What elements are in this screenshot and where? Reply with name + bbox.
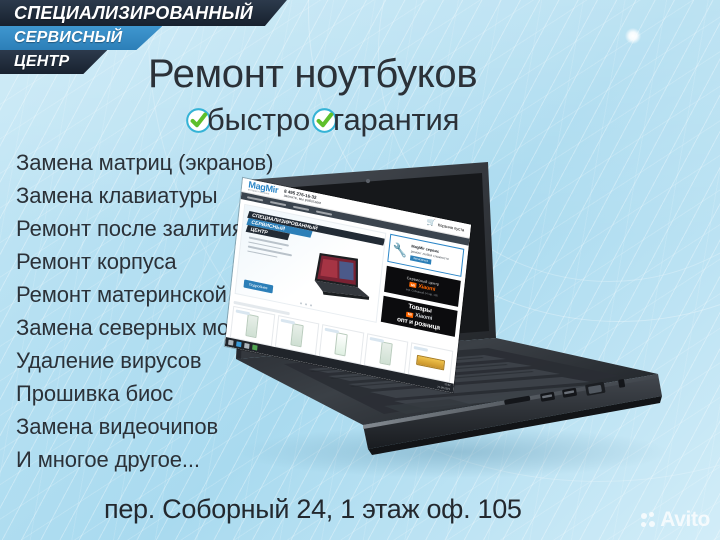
taskbar-tray[interactable]: 11:42 21.09.2021 — [437, 382, 451, 391]
product-tag — [414, 346, 428, 352]
hero-dot[interactable] — [310, 304, 312, 306]
avito-watermark: Avito — [641, 508, 710, 532]
avito-dots-icon — [641, 512, 656, 529]
product-image — [416, 355, 445, 371]
taskbar-clock[interactable]: 11:42 21.09.2021 — [437, 382, 451, 391]
product-tag — [280, 319, 294, 325]
hero-dot[interactable] — [305, 303, 307, 305]
product-image — [379, 341, 392, 365]
taskbar-app-icon[interactable] — [252, 345, 258, 351]
product-tag — [369, 337, 383, 343]
background-glow-dot — [625, 28, 641, 44]
page-title: Ремонт ноутбуков — [148, 52, 477, 97]
xiaomi-mark-icon: MI — [406, 311, 413, 317]
service-card-button[interactable]: Записаться — [410, 255, 431, 265]
service-card-text: MagMir сервис ремонт любой сложности Зап… — [410, 244, 460, 271]
product-image — [246, 314, 259, 338]
avito-wordmark: Avito — [660, 508, 710, 532]
tools-icon: 🔧 — [392, 243, 408, 258]
promise-row: быстро гарантия — [186, 102, 459, 138]
taskbar-app-icon[interactable] — [244, 343, 250, 349]
hero-cta-button[interactable]: Подробнее — [243, 279, 273, 293]
ribbon-service-label: СЕРВИСНЫЙ — [14, 29, 122, 47]
product-image — [290, 323, 303, 347]
site-cart-label: Корзина пуста — [438, 222, 465, 232]
ribbon-center: ЦЕНТР — [0, 50, 107, 74]
promise-label-fast: быстро — [207, 102, 310, 138]
promise-label-warranty: гарантия — [333, 102, 459, 138]
ribbon-specialized: СПЕЦИАЛИЗИРОВАННЫЙ — [0, 0, 287, 26]
address-line: пер. Соборный 24, 1 этаж оф. 105 — [104, 494, 522, 525]
product-image — [335, 332, 348, 356]
site-side-rail: 🔧 MagMir сервис ремонт любой сложности З… — [381, 234, 465, 339]
taskbar-app-icon[interactable] — [236, 341, 242, 347]
product-tag — [325, 328, 339, 334]
ribbon-specialized-label: СПЕЦИАЛИЗИРОВАННЫЙ — [14, 3, 253, 24]
hero-laptop-image — [299, 246, 378, 309]
product-tag — [236, 309, 250, 315]
ribbon-service: СЕРВИСНЫЙ — [0, 26, 162, 50]
hero-carousel-dots[interactable] — [300, 302, 312, 306]
xiaomi-mark-icon: MI — [409, 282, 416, 288]
ribbon-center-label: ЦЕНТР — [14, 53, 69, 71]
start-icon[interactable] — [228, 340, 234, 346]
cart-icon: 🛒 — [427, 219, 436, 228]
hero-dot[interactable] — [300, 302, 302, 304]
poster-root: СПЕЦИАЛИЗИРОВАННЫЙ СЕРВИСНЫЙ ЦЕНТР Ремон… — [0, 0, 720, 540]
